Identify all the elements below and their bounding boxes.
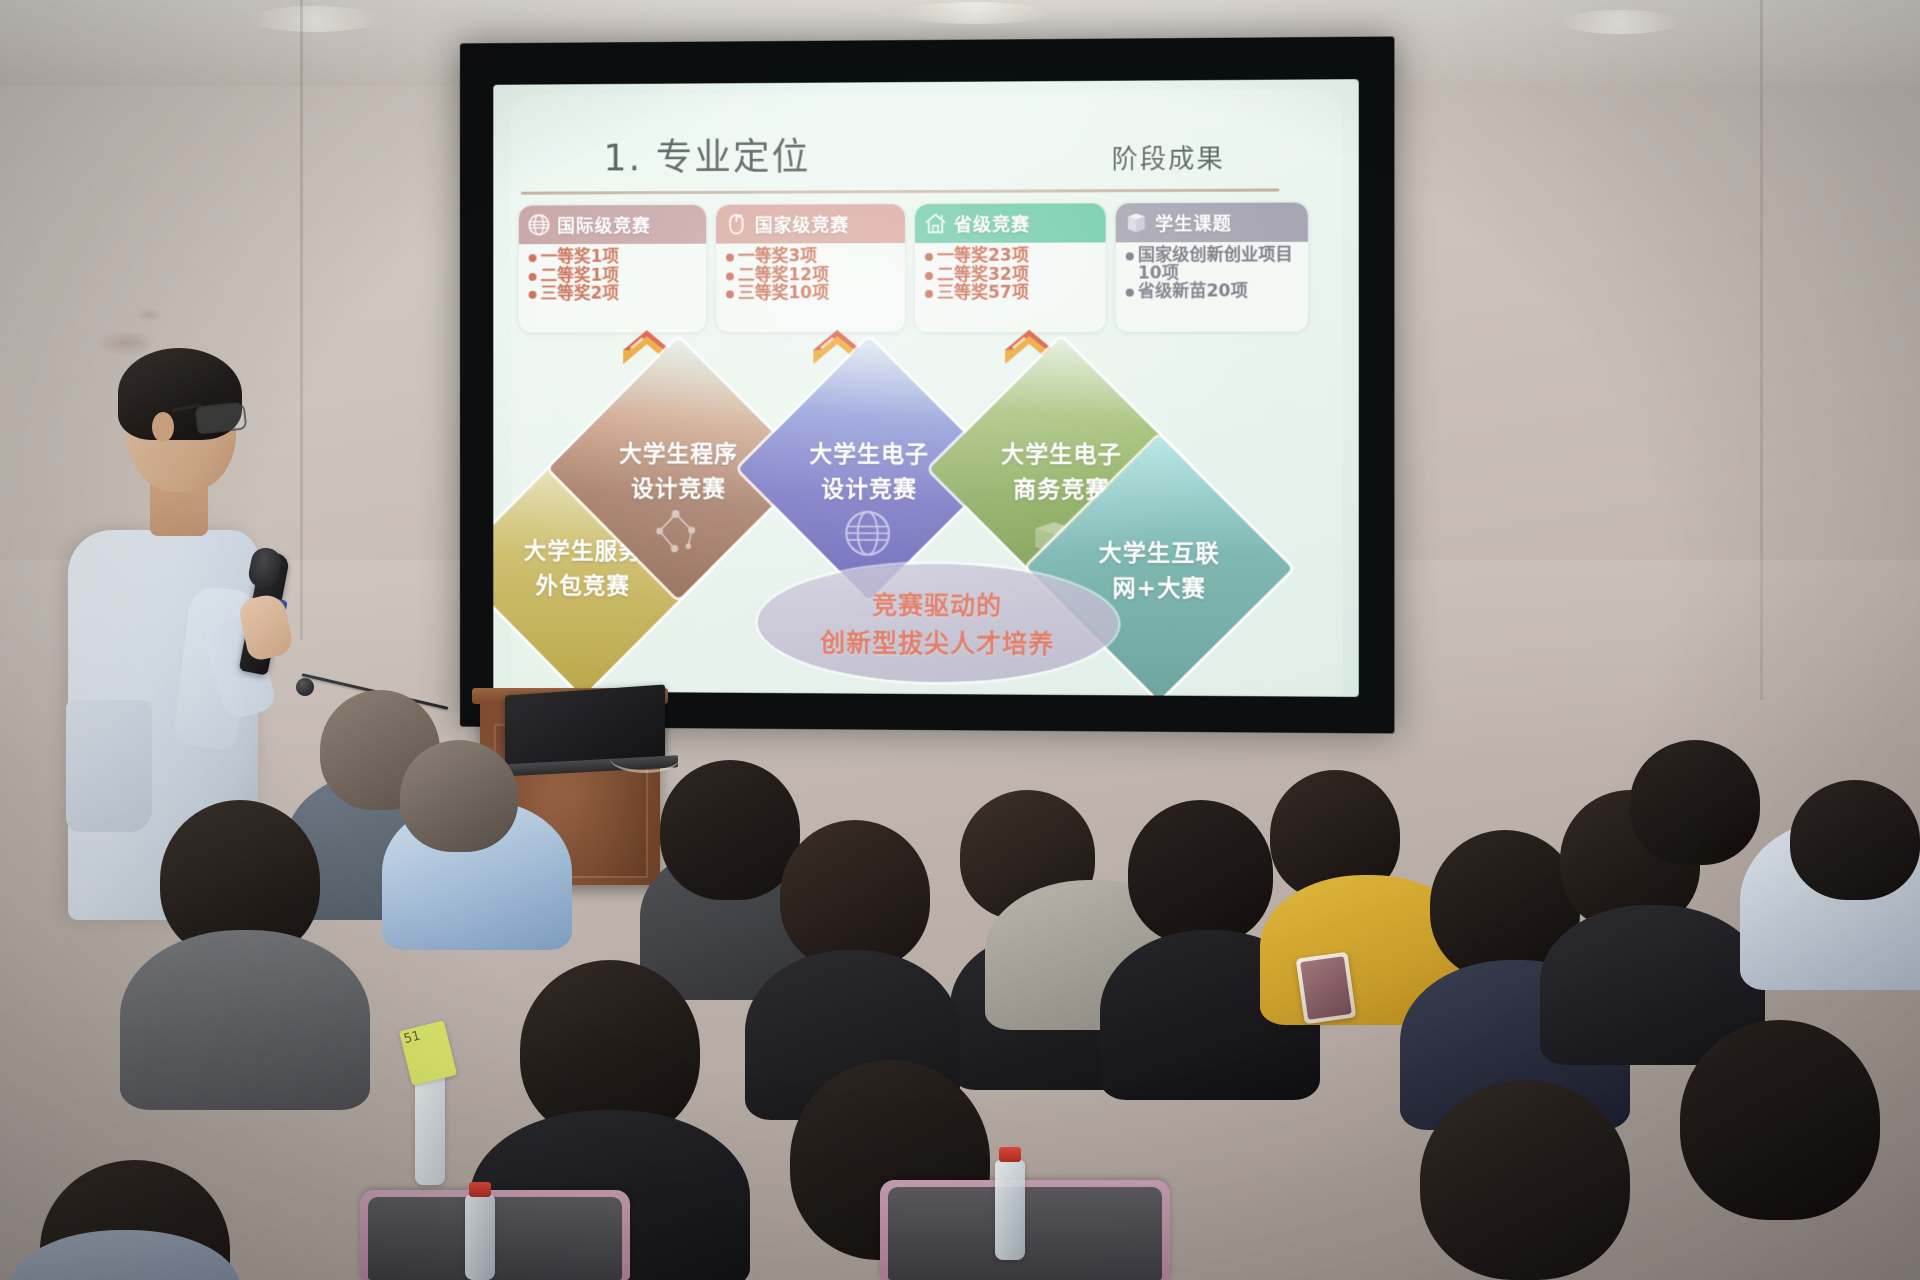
card-national: 国家级竞赛 一等奖3项 二等奖12项 三等奖10项: [716, 204, 905, 332]
presenter-sleeve: [66, 700, 152, 832]
card-header-label: 省级竞赛: [954, 210, 1030, 236]
bullet-text: 一等奖1项: [540, 249, 619, 267]
card-header-label: 国家级竞赛: [755, 211, 849, 237]
attendee-head: [1128, 800, 1273, 945]
smartphone[interactable]: [1296, 952, 1357, 1025]
ceiling-light-2: [900, 2, 1050, 24]
card-bullet: 三等奖57项: [925, 285, 1100, 303]
chair-cushion: [368, 1197, 622, 1280]
bullet-dot: [925, 272, 933, 280]
globe-icon: [527, 212, 552, 237]
bullet-dot: [1126, 289, 1134, 297]
card-header: 省级竞赛: [915, 203, 1106, 243]
card-bullet: 三等奖2项: [529, 286, 701, 304]
card-header: 国家级竞赛: [716, 204, 905, 244]
diamond-label-line2: 设计竞赛: [631, 469, 726, 503]
house-icon: [923, 211, 948, 236]
bullet-dot: [925, 290, 933, 298]
eyeglasses-icon: [195, 401, 248, 434]
card-student-projects: 学生课题 国家级创新创业项目10项 省级新苗20项: [1116, 202, 1308, 331]
center-theme-ellipse: 竞赛驱动的 创新型拔尖人才培养: [758, 563, 1118, 683]
card-header: 学生课题: [1116, 202, 1308, 242]
attendee-head: [400, 740, 518, 852]
presentation-slide: 1. 专业定位 阶段成果 国际级竞赛 一等奖1项 二等奖1项 三等奖2项: [493, 79, 1358, 697]
attendee-head: [1630, 740, 1760, 865]
diamond-label-line1: 大学生互联: [1099, 533, 1220, 568]
ellipse-line1: 竞赛驱动的: [872, 586, 1002, 623]
attendee-head: [1420, 1080, 1630, 1280]
photo-scene: 1. 专业定位 阶段成果 国际级竞赛 一等奖1项 二等奖1项 三等奖2项: [0, 0, 1920, 1280]
card-bullet: 三等奖10项: [726, 285, 899, 303]
bullet-text: 二等奖1项: [540, 267, 619, 285]
ceiling-light-1: [250, 6, 380, 32]
diamond-label-line2: 设计竞赛: [821, 469, 917, 503]
bullet-text: 二等奖12项: [738, 267, 829, 285]
wall-seam-left: [300, 0, 303, 640]
bullet-dot: [529, 254, 537, 262]
gooseneck-microphone-head: [296, 678, 314, 696]
achievement-cards: 国际级竞赛 一等奖1项 二等奖1项 三等奖2项 国家级竞赛: [519, 202, 1308, 332]
attendee-head: [780, 820, 930, 970]
card-body: 国家级创新创业项目10项 省级新苗20项: [1116, 242, 1308, 332]
card-bullet: 二等奖12项: [726, 267, 899, 285]
card-bullet: 一等奖1项: [529, 249, 701, 267]
chair-back: [880, 1180, 1170, 1280]
presenter-ear: [152, 412, 174, 442]
cable: [610, 744, 680, 773]
attendee-head: [660, 760, 800, 900]
bullet-dot: [1126, 252, 1134, 260]
card-international: 国际级竞赛 一等奖1项 二等奖1项 三等奖2项: [519, 205, 706, 333]
ellipse-line2: 创新型拔尖人才培养: [820, 623, 1054, 660]
bottle-cap: [469, 1182, 491, 1197]
bullet-text: 省级新苗20项: [1138, 283, 1248, 301]
bottle-cap: [999, 1147, 1021, 1162]
attendee-head: [1680, 1020, 1880, 1220]
projection-screen: 1. 专业定位 阶段成果 国际级竞赛 一等奖1项 二等奖1项 三等奖2项: [460, 36, 1394, 733]
water-bottle[interactable]: [465, 1195, 495, 1280]
attendee-head: [1790, 780, 1920, 900]
bullet-dot: [529, 291, 537, 299]
card-bullet: 省级新苗20项: [1126, 283, 1302, 301]
bullet-text: 二等奖32项: [937, 266, 1029, 284]
bullet-text: 三等奖2项: [540, 286, 619, 304]
phone-screen: [1300, 956, 1352, 1020]
card-bullet: 一等奖3项: [726, 248, 899, 266]
ceiling-light-3: [1560, 10, 1680, 34]
card-bullet: 国家级创新创业项目10项: [1126, 247, 1302, 283]
diamond-label-line2: 外包竞赛: [536, 566, 631, 600]
card-header-label: 国际级竞赛: [557, 212, 651, 238]
book-icon: [1124, 210, 1149, 235]
wall-mark-b: [136, 308, 162, 322]
bullet-text: 一等奖3项: [738, 248, 817, 266]
wall-mark-a: [96, 330, 156, 356]
diamond-cluster: 大学生服务 外包竞赛 大学生程序 设计竞赛: [513, 327, 1345, 690]
water-bottle[interactable]: [995, 1160, 1025, 1260]
bullet-text: 三等奖10项: [738, 286, 829, 304]
card-body: 一等奖23项 二等奖32项 三等奖57项: [915, 242, 1106, 332]
card-bullet: 二等奖32项: [925, 266, 1100, 284]
chair-cushion: [888, 1187, 1162, 1280]
bullet-dot: [529, 273, 537, 281]
bullet-text: 国家级创新创业项目10项: [1138, 247, 1302, 283]
diamond-label-line1: 大学生程序: [619, 434, 738, 468]
bullet-dot: [925, 253, 933, 261]
card-bullet: 二等奖1项: [529, 267, 701, 285]
diamond-label-line1: 大学生电子: [809, 434, 929, 468]
bullet-dot: [726, 291, 734, 299]
slide-title: 1. 专业定位: [603, 127, 810, 182]
attendee-shoulders: [120, 930, 370, 1110]
card-body: 一等奖3项 二等奖12项 三等奖10项: [716, 243, 905, 332]
diamond-label-line1: 大学生电子: [1001, 435, 1122, 469]
bullet-dot: [726, 272, 734, 280]
card-bullet: 一等奖23项: [925, 247, 1100, 265]
chair-back: [360, 1190, 630, 1280]
bullet-text: 一等奖23项: [937, 248, 1029, 266]
bullet-text: 三等奖57项: [937, 285, 1029, 303]
card-provincial: 省级竞赛 一等奖23项 二等奖32项 三等奖57项: [915, 203, 1106, 332]
bullet-dot: [726, 254, 734, 262]
mouse-icon: [724, 212, 749, 237]
diamond-label-line2: 网+大赛: [1113, 568, 1206, 603]
card-header: 国际级竞赛: [519, 205, 706, 244]
card-header-label: 学生课题: [1155, 209, 1232, 235]
card-body: 一等奖1项 二等奖1项 三等奖2项: [519, 244, 706, 333]
slide-stage-label: 阶段成果: [1112, 138, 1225, 176]
